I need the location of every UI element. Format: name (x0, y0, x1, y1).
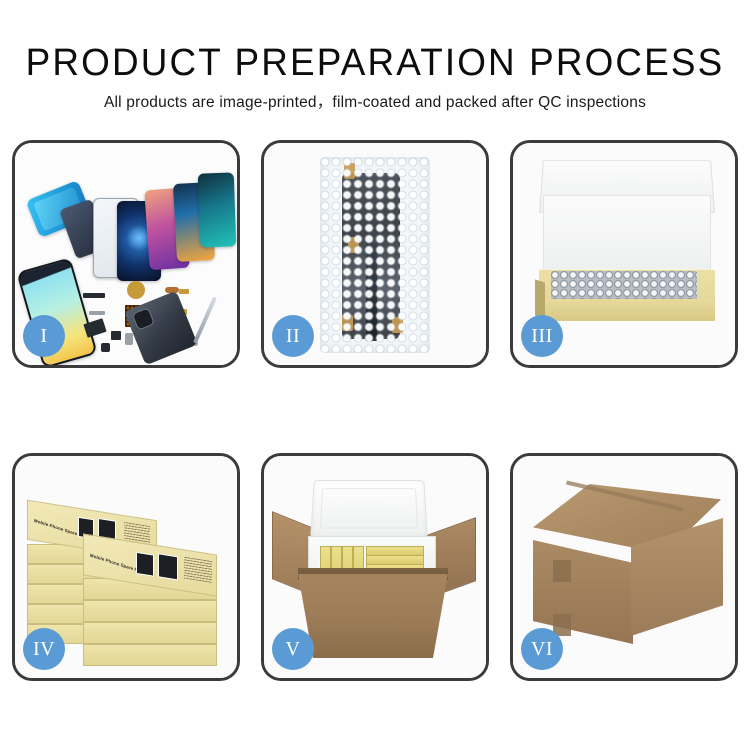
mailer-box-side-flap (535, 279, 545, 318)
foam-lid (310, 480, 428, 538)
process-step-panel-1[interactable]: I (12, 140, 240, 368)
step-3-illustration: III (513, 143, 735, 365)
step-6-illustration: VI (513, 456, 735, 678)
process-step-panel-4[interactable]: Mobile Phone Spare Parts Mobile Phone Sp… (12, 453, 240, 681)
step-1-illustration: I (15, 143, 237, 365)
page-header: PRODUCT PREPARATION PROCESS All products… (0, 0, 750, 114)
step-5-illustration: V (264, 456, 486, 678)
carton-body (298, 574, 448, 658)
process-step-grid: I II III (12, 140, 738, 681)
step-badge-5: V (272, 628, 314, 670)
phone-display-teal (198, 172, 237, 247)
step-2-illustration: II (264, 143, 486, 365)
mailer-box-front (539, 299, 715, 321)
process-step-panel-2[interactable]: II (261, 140, 489, 368)
bubble-wrap-bag (320, 157, 430, 353)
bubble-texture (320, 157, 430, 353)
carton-tape-upper (553, 560, 571, 582)
step-badge-6: VI (521, 628, 563, 670)
process-step-panel-5[interactable]: V (261, 453, 489, 681)
step-badge-4: IV (23, 628, 65, 670)
step-4-illustration: Mobile Phone Spare Parts Mobile Phone Sp… (15, 456, 237, 678)
page-subtitle: All products are image-printed，film-coat… (0, 92, 750, 114)
page-title: PRODUCT PREPARATION PROCESS (11, 40, 739, 86)
step-badge-1: I (23, 315, 65, 357)
step-badge-3: III (521, 315, 563, 357)
process-step-panel-3[interactable]: III (510, 140, 738, 368)
process-step-panel-6[interactable]: VI (510, 453, 738, 681)
step-badge-2: II (272, 315, 314, 357)
bubble-wrapped-contents (551, 271, 697, 301)
